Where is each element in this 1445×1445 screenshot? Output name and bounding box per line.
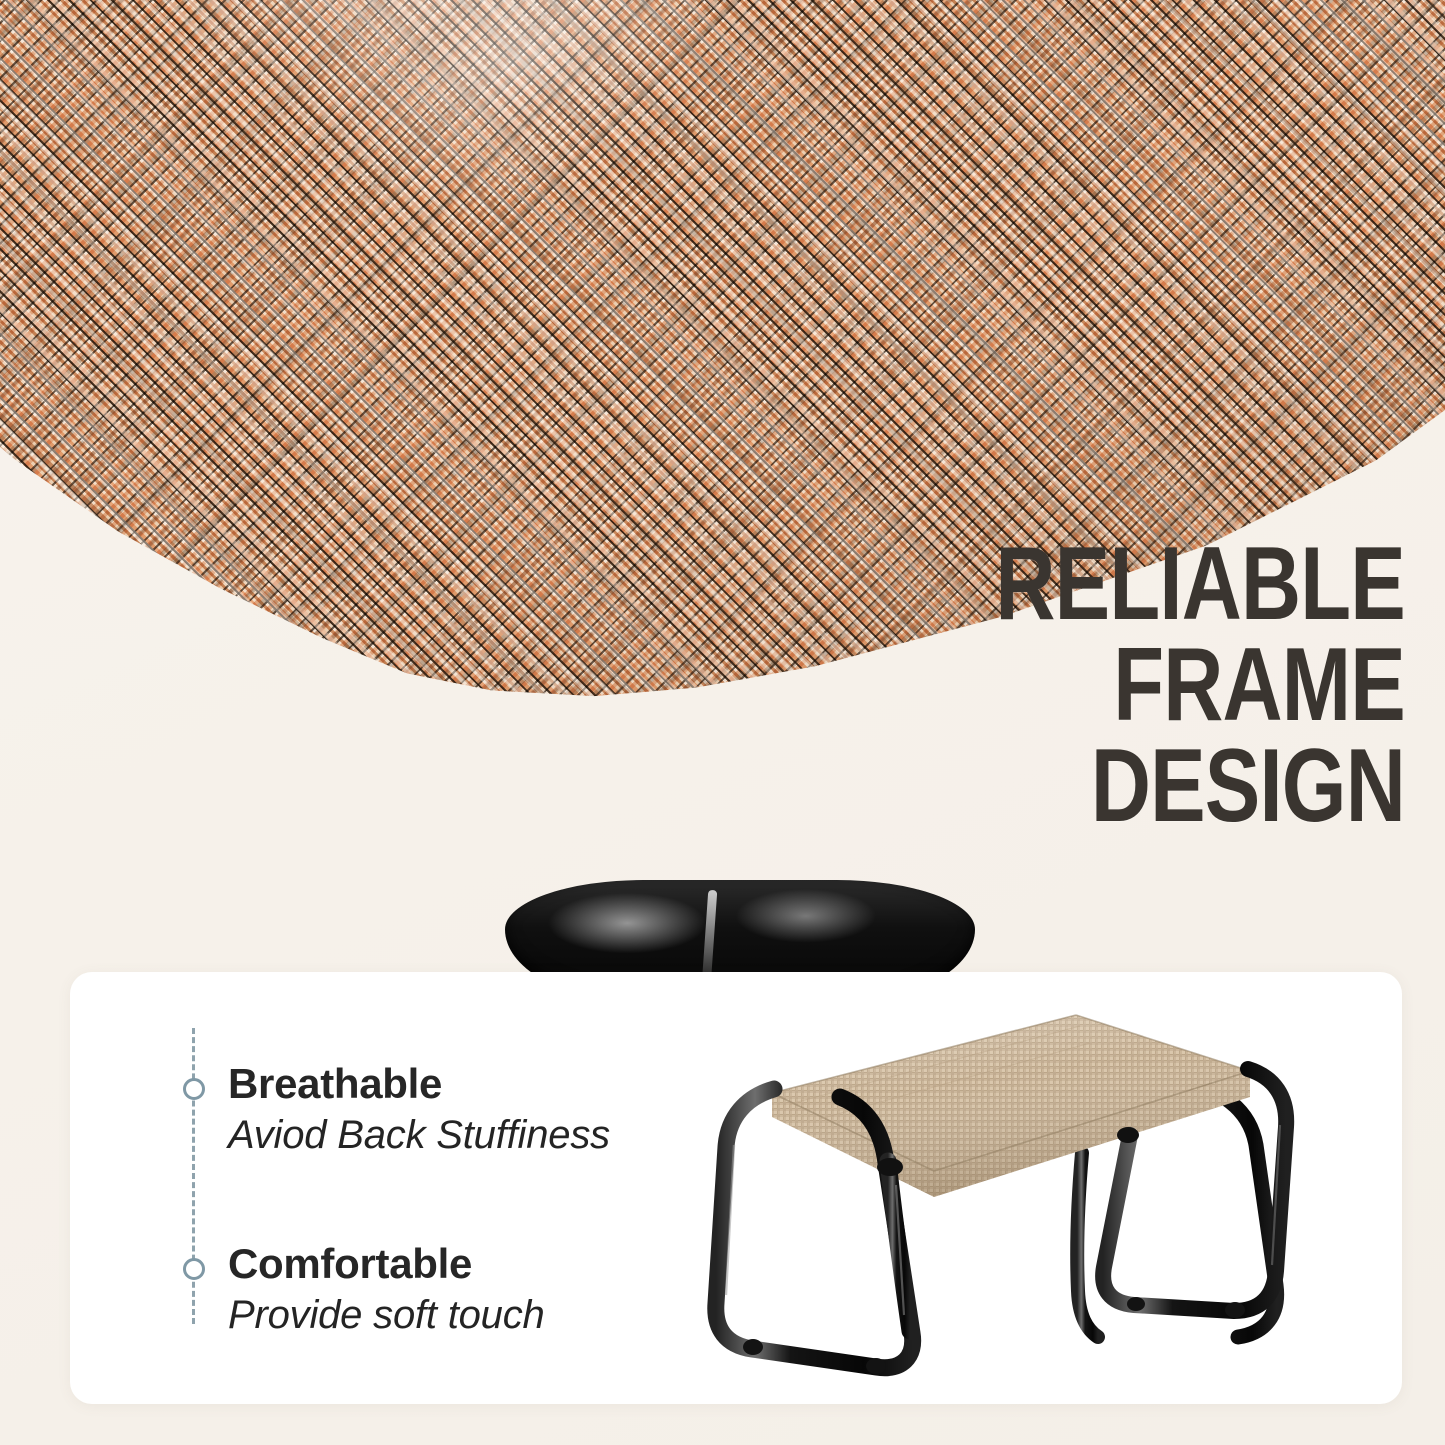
product-photo-ottoman xyxy=(690,985,1330,1405)
ottoman-joint-collar xyxy=(877,1158,903,1176)
feature-title: Breathable xyxy=(228,1062,610,1106)
ottoman-joint-collar xyxy=(1117,1127,1139,1143)
feature-title: Comfortable xyxy=(228,1242,545,1286)
product-marketing-image: RELIABLE FRAME DESIGN Breathable Aviod B… xyxy=(0,0,1445,1445)
ottoman-leg-back-left xyxy=(1077,1153,1098,1337)
ottoman-foot-cap xyxy=(866,1358,886,1374)
headline: RELIABLE FRAME DESIGN xyxy=(893,534,1405,837)
ottoman-foot-cap xyxy=(743,1339,763,1355)
bullet-marker-icon xyxy=(183,1258,205,1280)
feature-item-breathable: Breathable Aviod Back Stuffiness xyxy=(228,1062,610,1159)
ottoman-foot-cap xyxy=(1127,1297,1145,1311)
feature-item-comfortable: Comfortable Provide soft touch xyxy=(228,1242,545,1339)
headline-line-1: RELIABLE xyxy=(995,534,1405,635)
feature-subtitle: Aviod Back Stuffiness xyxy=(228,1112,610,1159)
ottoman-foot-cap xyxy=(1225,1302,1245,1318)
headline-line-3: DESIGN xyxy=(995,736,1405,837)
feature-subtitle: Provide soft touch xyxy=(228,1292,545,1339)
headline-line-2: FRAME xyxy=(995,635,1405,736)
bullet-marker-icon xyxy=(183,1078,205,1100)
